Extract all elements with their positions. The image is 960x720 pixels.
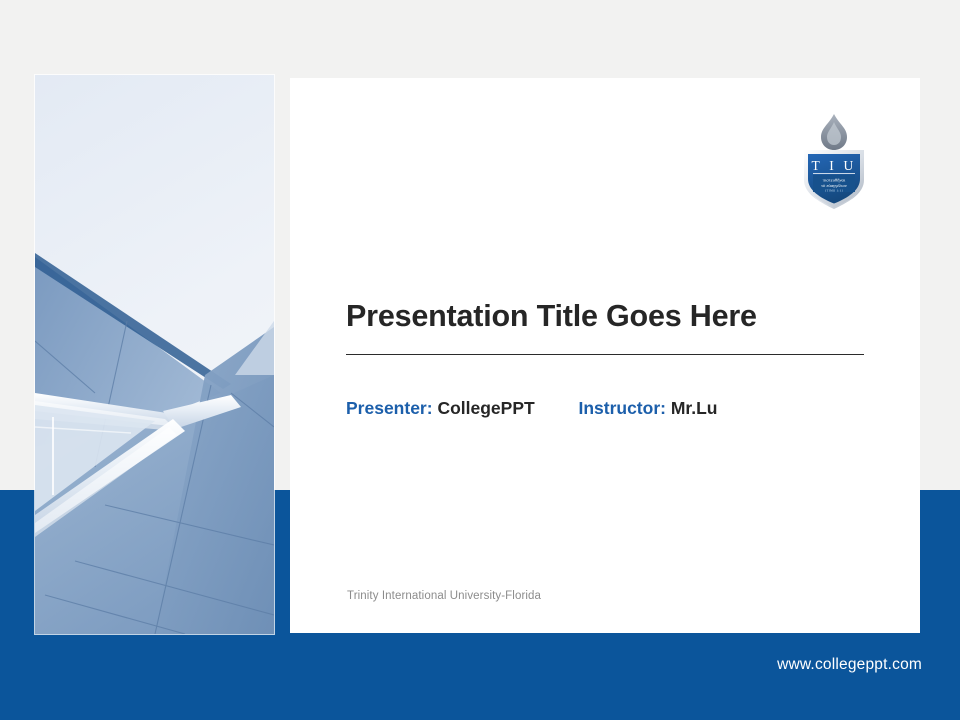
university-crest-logo: T I U πιστευθῆναι τὸ εὐαγγέλιον 1TIMO 1:… xyxy=(796,110,872,210)
title-block: Presentation Title Goes Here xyxy=(346,300,866,355)
instructor-label: Instructor: xyxy=(578,398,666,418)
organization-name: Trinity International University-Florida xyxy=(347,590,541,602)
flame-icon xyxy=(821,114,847,150)
presenter-label: Presenter: xyxy=(346,398,433,418)
slide-content-card: T I U πιστευθῆναι τὸ εὐαγγέλιον 1TIMO 1:… xyxy=(290,78,920,633)
title-divider-rule xyxy=(346,354,864,355)
instructor-value: Mr.Lu xyxy=(671,398,718,418)
byline-row: Presenter: CollegePPT Instructor: Mr.Lu xyxy=(346,398,718,419)
crest-motto-line-2: τὸ εὐαγγέλιον xyxy=(821,183,847,188)
architecture-photo-image xyxy=(35,75,274,634)
footer-website-url[interactable]: www.collegeppt.com xyxy=(777,656,922,674)
slide-root: www.collegeppt.com xyxy=(0,0,960,720)
page-title: Presentation Title Goes Here xyxy=(346,300,866,334)
presenter-value: CollegePPT xyxy=(437,398,534,418)
crest-motto-line-3: 1TIMO 1:11 xyxy=(825,189,844,193)
crest-initials: T I U xyxy=(812,158,857,173)
crest-icon: T I U πιστευθῆναι τὸ εὐαγγέλιον 1TIMO 1:… xyxy=(796,110,872,210)
crest-motto-line-1: πιστευθῆναι xyxy=(823,178,846,183)
decorative-photo-panel xyxy=(35,75,274,634)
